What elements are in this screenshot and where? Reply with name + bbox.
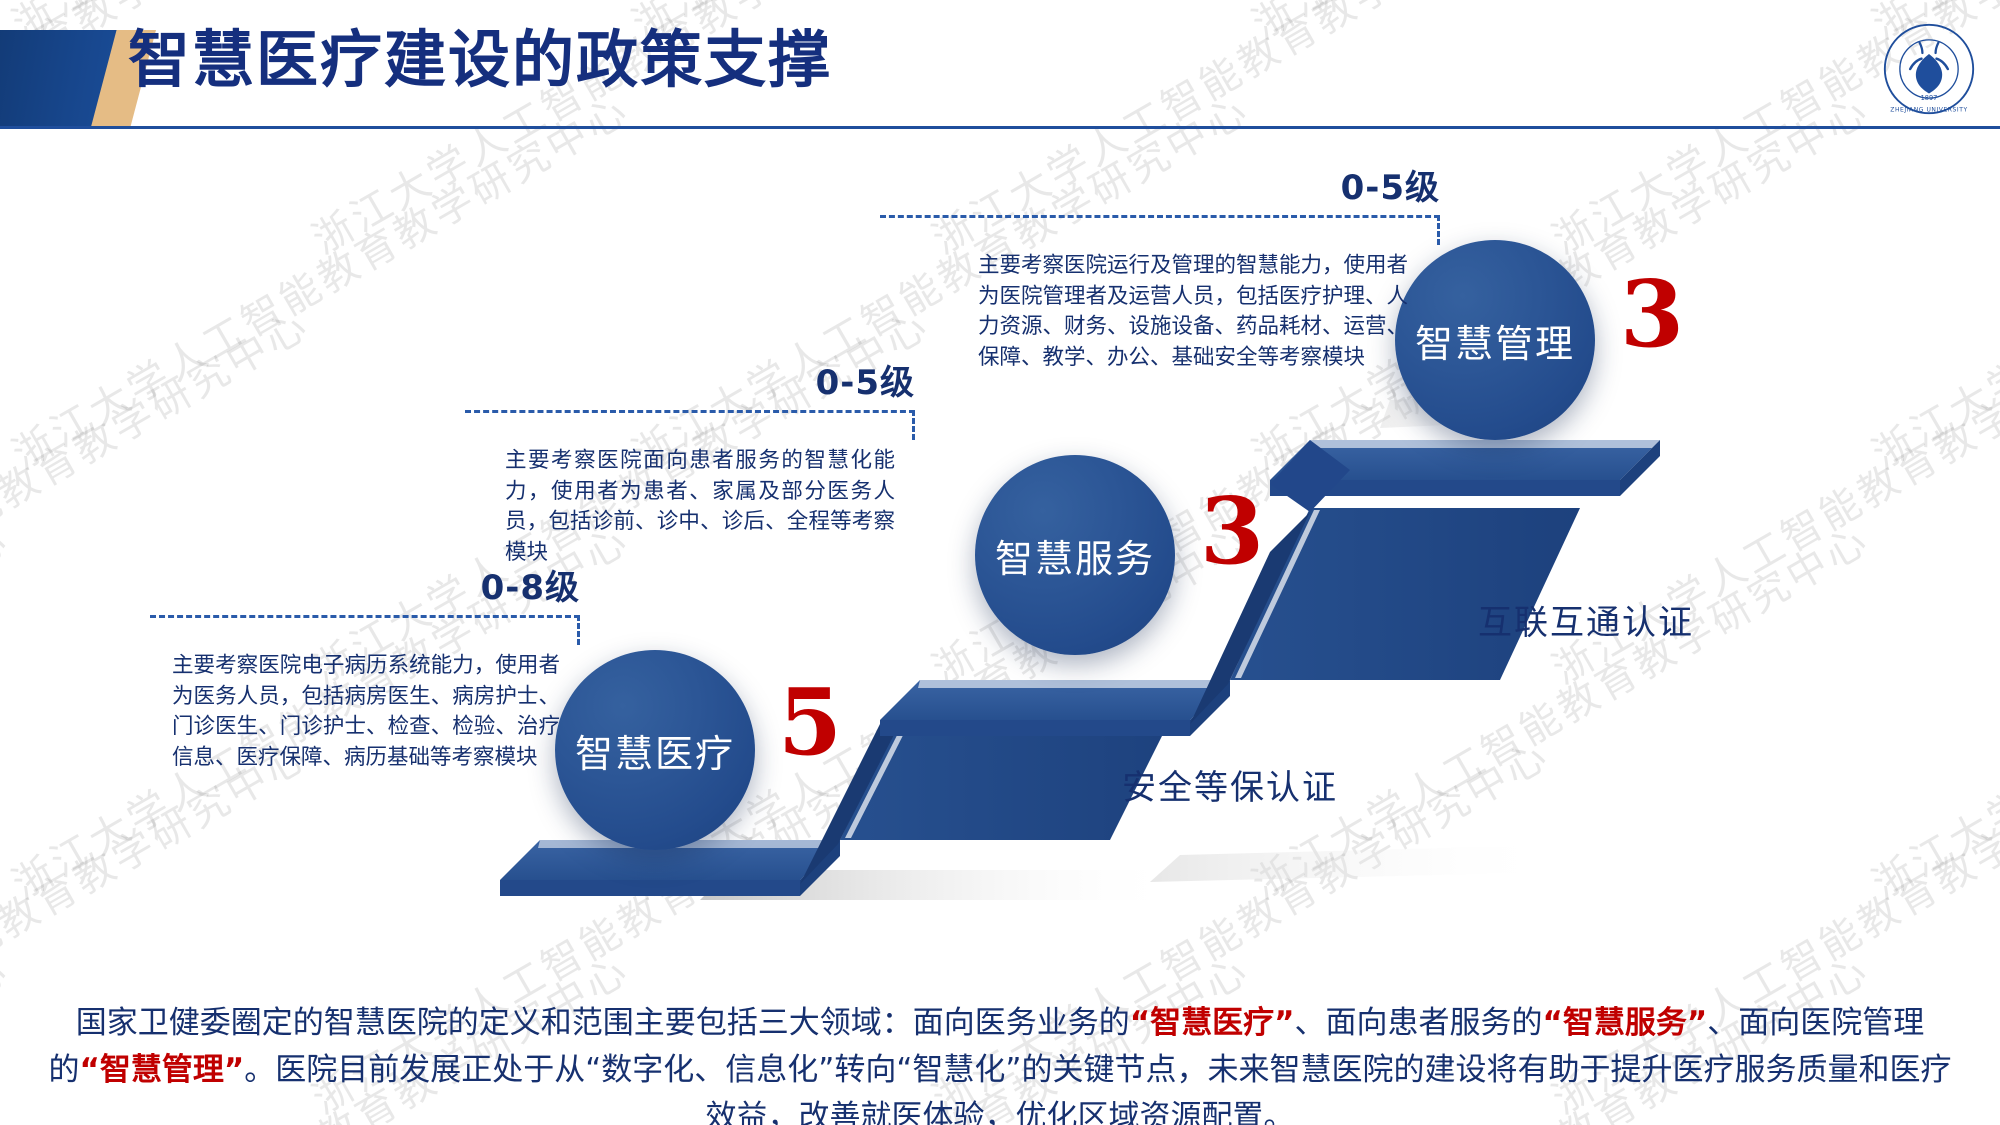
- node-smart-management-number: 3: [1620, 268, 1684, 360]
- caption-text-2: 、面向患者服务的: [1295, 1005, 1543, 1041]
- logo-year: 1897: [1921, 94, 1938, 102]
- slide-root: 浙江大学人工智能教育教学研究中心浙江大学人工智能教育教学研究中心浙江大学人工智能…: [0, 0, 2000, 1125]
- caption-interconnection-certification: 互联互通认证: [1478, 595, 1694, 644]
- callout-smart-management: 0-5级 主要考察医院运行及管理的智慧能力，使用者为医院管理者及运营人员，包括医…: [880, 160, 1440, 373]
- callout-smart-medical-body: 主要考察医院电子病历系统能力，使用者为医务人员，包括病房医生、病房护士、门诊医生…: [172, 651, 560, 773]
- callout-smart-service: 0-5级 主要考察医院面向患者服务的智慧化能力，使用者为患者、家属及部分医务人员…: [465, 355, 915, 568]
- node-smart-medical[interactable]: 智慧医疗: [555, 650, 755, 850]
- caption-highlight-3: “智慧服务”: [1543, 1005, 1708, 1041]
- logo-english-name: ZHEJIANG UNIVERSITY: [1890, 106, 1967, 113]
- node-smart-medical-number: 5: [778, 676, 842, 768]
- node-smart-medical-label: 智慧医疗: [575, 723, 735, 778]
- caption-security-certification: 安全等保认证: [1122, 760, 1338, 809]
- node-smart-service[interactable]: 智慧服务: [975, 455, 1175, 655]
- caption-highlight-1: “智慧医疗”: [1130, 1005, 1295, 1041]
- callout-smart-management-body: 主要考察医院运行及管理的智慧能力，使用者为医院管理者及运营人员，包括医疗护理、人…: [978, 251, 1408, 373]
- caption-text-6: 。医院目前发展正处于从“数字化、信息化”转向“智慧化”的关键节点，未来智慧医院的…: [244, 1052, 1951, 1125]
- callout-smart-management-level: 0-5级: [880, 160, 1440, 209]
- callout-smart-service-bracket: [465, 410, 915, 440]
- node-smart-service-number: 3: [1200, 485, 1264, 577]
- slide-header: 智慧医疗建设的政策支撑 1897 ZHEJIANG UNIVERSITY: [0, 0, 2000, 128]
- callout-smart-service-level: 0-5级: [465, 355, 915, 404]
- zhejiang-university-logo-icon: 1897 ZHEJIANG UNIVERSITY: [1882, 22, 1976, 116]
- node-smart-service-label: 智慧服务: [995, 528, 1155, 583]
- callout-smart-medical-bracket: [150, 615, 580, 645]
- callout-smart-management-bracket: [880, 215, 1440, 245]
- page-title: 智慧医疗建设的政策支撑: [128, 24, 832, 95]
- header-divider: [0, 126, 2000, 129]
- caption-highlight-5: “智慧管理”: [80, 1052, 245, 1088]
- bottom-caption: 国家卫健委圈定的智慧医院的定义和范围主要包括三大领域：面向医务业务的“智慧医疗”…: [48, 1000, 1952, 1125]
- caption-text-0: 国家卫健委圈定的智慧医院的定义和范围主要包括三大领域：面向医务业务的: [76, 1005, 1130, 1041]
- callout-smart-service-body: 主要考察医院面向患者服务的智慧化能力，使用者为患者、家属及部分医务人员，包括诊前…: [505, 446, 895, 568]
- callout-smart-medical: 0-8级 主要考察医院电子病历系统能力，使用者为医务人员，包括病房医生、病房护士…: [150, 560, 580, 773]
- stair-step-2: [880, 680, 1230, 736]
